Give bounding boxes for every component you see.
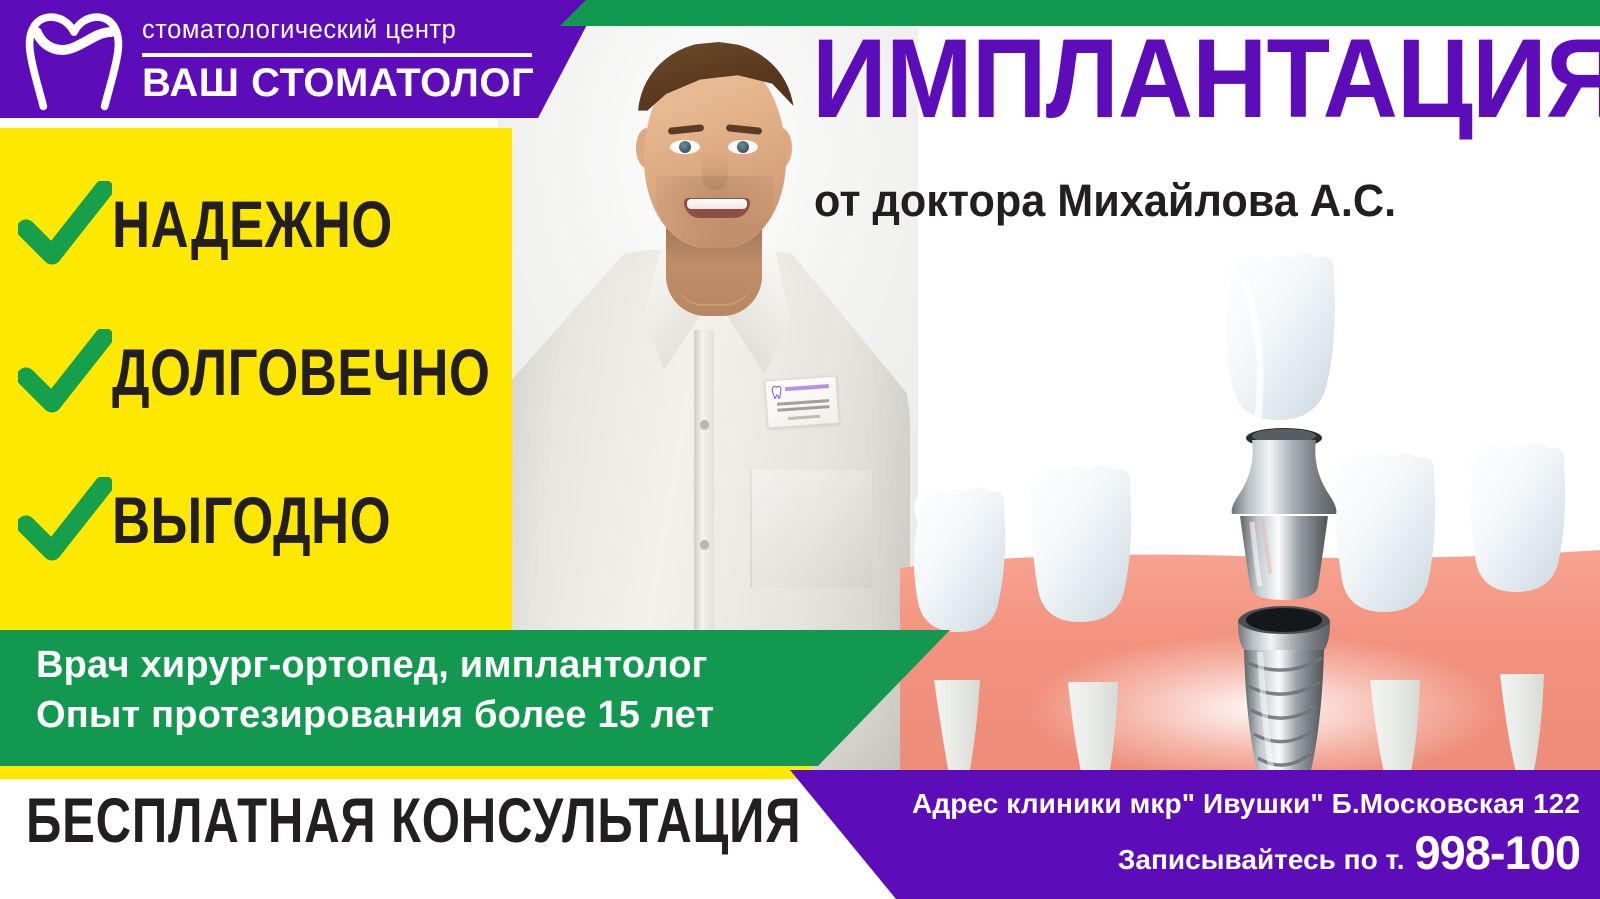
name-badge: [764, 376, 839, 429]
smiling-mouth: [684, 198, 750, 218]
badge-name-line: [777, 405, 829, 412]
clinic-address: Адрес клиники мкр" Ивушки" Б.Московская …: [820, 786, 1580, 821]
nose: [702, 150, 728, 190]
benefit-item: НАДЕЖНО: [18, 150, 508, 298]
tooth-icon: [18, 8, 130, 113]
implant-crown: [1226, 253, 1335, 420]
dental-implant-illustration: [900, 250, 1600, 770]
shirt-button: [700, 420, 709, 429]
booking-label: Записывайтесь по т.: [1118, 844, 1405, 876]
brand-subtitle: стоматологический центр: [142, 18, 562, 44]
credentials-line-1: Врач хирург-ортопед, имплантолог: [36, 640, 916, 690]
dental-implant-advertisement-banner: стоматологический центр ВАШ СТОМАТОЛОГ Н…: [0, 0, 1600, 899]
doctor-credentials: Врач хирург-ортопед, имплантолог Опыт пр…: [36, 640, 916, 740]
check-icon: [18, 477, 112, 563]
page-title: ИМПЛАНТАЦИЯ: [812, 22, 1547, 136]
brand-logo-text: стоматологический центр ВАШ СТОМАТОЛОГ: [142, 18, 562, 103]
free-consultation-offer: БЕСПЛАТНАЯ КОНСУЛЬТАЦИЯ: [26, 790, 650, 853]
booking-line: Записывайтесь по т. 998-100: [820, 825, 1580, 880]
benefit-item: ДОЛГОВЕЧНО: [18, 298, 508, 446]
check-icon: [18, 329, 112, 415]
page-subtitle: от доктора Михайлова А.С.: [814, 178, 1572, 223]
shirt-button: [700, 540, 709, 549]
contact-info: Адрес клиники мкр" Ивушки" Б.Московская …: [820, 786, 1580, 880]
eye-left: [670, 140, 700, 154]
phone-number[interactable]: 998-100: [1415, 825, 1581, 880]
benefit-item: ВЫГОДНО: [18, 446, 508, 594]
check-icon: [18, 181, 112, 267]
eye-right: [728, 140, 758, 154]
credentials-line-2: Опыт протезирования более 15 лет: [36, 690, 916, 740]
badge-tooth-icon: [771, 385, 783, 399]
benefit-label: ДОЛГОВЕЧНО: [112, 339, 490, 405]
brand-header: стоматологический центр ВАШ СТОМАТОЛОГ: [0, 0, 600, 118]
benefit-label: ВЫГОДНО: [112, 487, 391, 553]
teeth: [687, 199, 747, 209]
badge-brand-text: [785, 384, 829, 391]
shirt-pocket: [750, 470, 872, 588]
benefits-list: НАДЕЖНО ДОЛГОВЕЧНО ВЫГОДНО: [18, 150, 508, 594]
yellow-accent-strip: [0, 766, 812, 779]
benefit-label: НАДЕЖНО: [112, 191, 393, 257]
brand-name: ВАШ СТОМАТОЛОГ: [142, 63, 562, 103]
badge-role-line: [788, 415, 820, 420]
brand-divider: [142, 53, 532, 57]
